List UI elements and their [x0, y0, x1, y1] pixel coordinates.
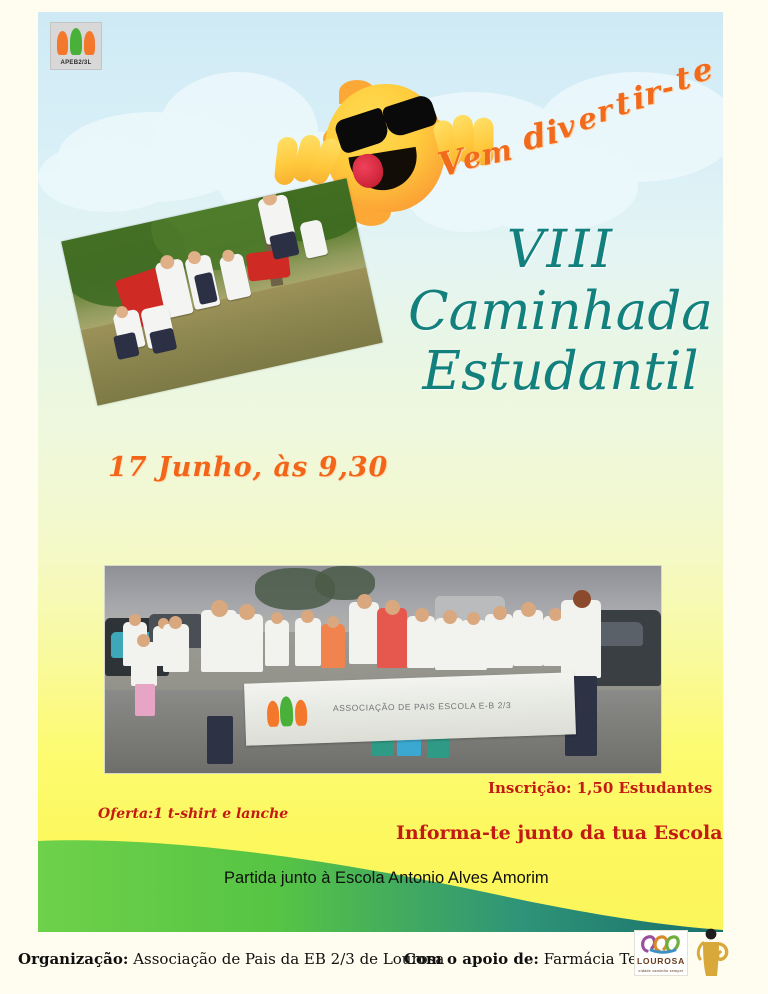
event-date: 17 Junho, às 9,30: [108, 452, 388, 483]
lourosa-logo-mark-icon: [635, 931, 687, 957]
title-edition: VIII: [388, 224, 723, 277]
footer-organization-label: Organização:: [18, 950, 128, 968]
poster-title: VIII Caminhada Estudantil: [388, 224, 723, 399]
title-line-2: Estudantil: [388, 345, 723, 399]
photo-students-resting: [61, 178, 382, 405]
poster-canvas: V e m d i v e r t i r - t e: [38, 12, 723, 932]
footer-organization-value: Associação de Pais da EB 2/3 de Lourosa: [128, 950, 444, 968]
lourosa-logo-subtext: cidade caminho sempre: [635, 969, 687, 973]
apeb-logo-caption: APEB2/3L: [51, 60, 101, 66]
banner-text: ASSOCIAÇÃO DE PAIS ESCOLA E-B 2/3: [333, 700, 512, 713]
lourosa-logo-text: LOUROSA: [635, 956, 687, 966]
lourosa-logo: LOUROSA cidade caminho sempre: [634, 930, 688, 976]
apeb-logo: APEB2/3L: [50, 22, 102, 70]
sponsor-figure-logo-icon: [694, 926, 734, 978]
inscription-price: Inscrição: 1,50 Estudantes: [488, 779, 712, 797]
green-footer-band: Partida junto à Escola Antonio Alves Amo…: [38, 827, 723, 932]
banner-apeb-logo-icon: [266, 693, 323, 735]
photo-walk-march: ASSOCIAÇÃO DE PAIS ESCOLA E-B 2/3: [104, 565, 662, 774]
footer-support-label: Com o apoio de:: [404, 950, 539, 968]
footer-support: Com o apoio de: Farmácia Teles: [404, 950, 658, 968]
poster-root: V e m d i v e r t i r - t e: [0, 0, 768, 994]
footer-organization: Organização: Associação de Pais da EB 2/…: [18, 950, 444, 968]
start-point-text: Partida junto à Escola Antonio Alves Amo…: [224, 869, 549, 888]
apeb-figure-center: [70, 28, 82, 55]
offer-text: Oferta:1 t-shirt e lanche: [98, 806, 288, 822]
march-banner: ASSOCIAÇÃO DE PAIS ESCOLA E-B 2/3: [244, 672, 576, 745]
apeb-figure-right: [84, 31, 95, 55]
cloud-shape: [38, 142, 178, 212]
title-line-1: Caminhada: [388, 285, 723, 339]
sponsor-figure-mark: [694, 926, 734, 978]
apeb-figure-left: [57, 31, 68, 55]
